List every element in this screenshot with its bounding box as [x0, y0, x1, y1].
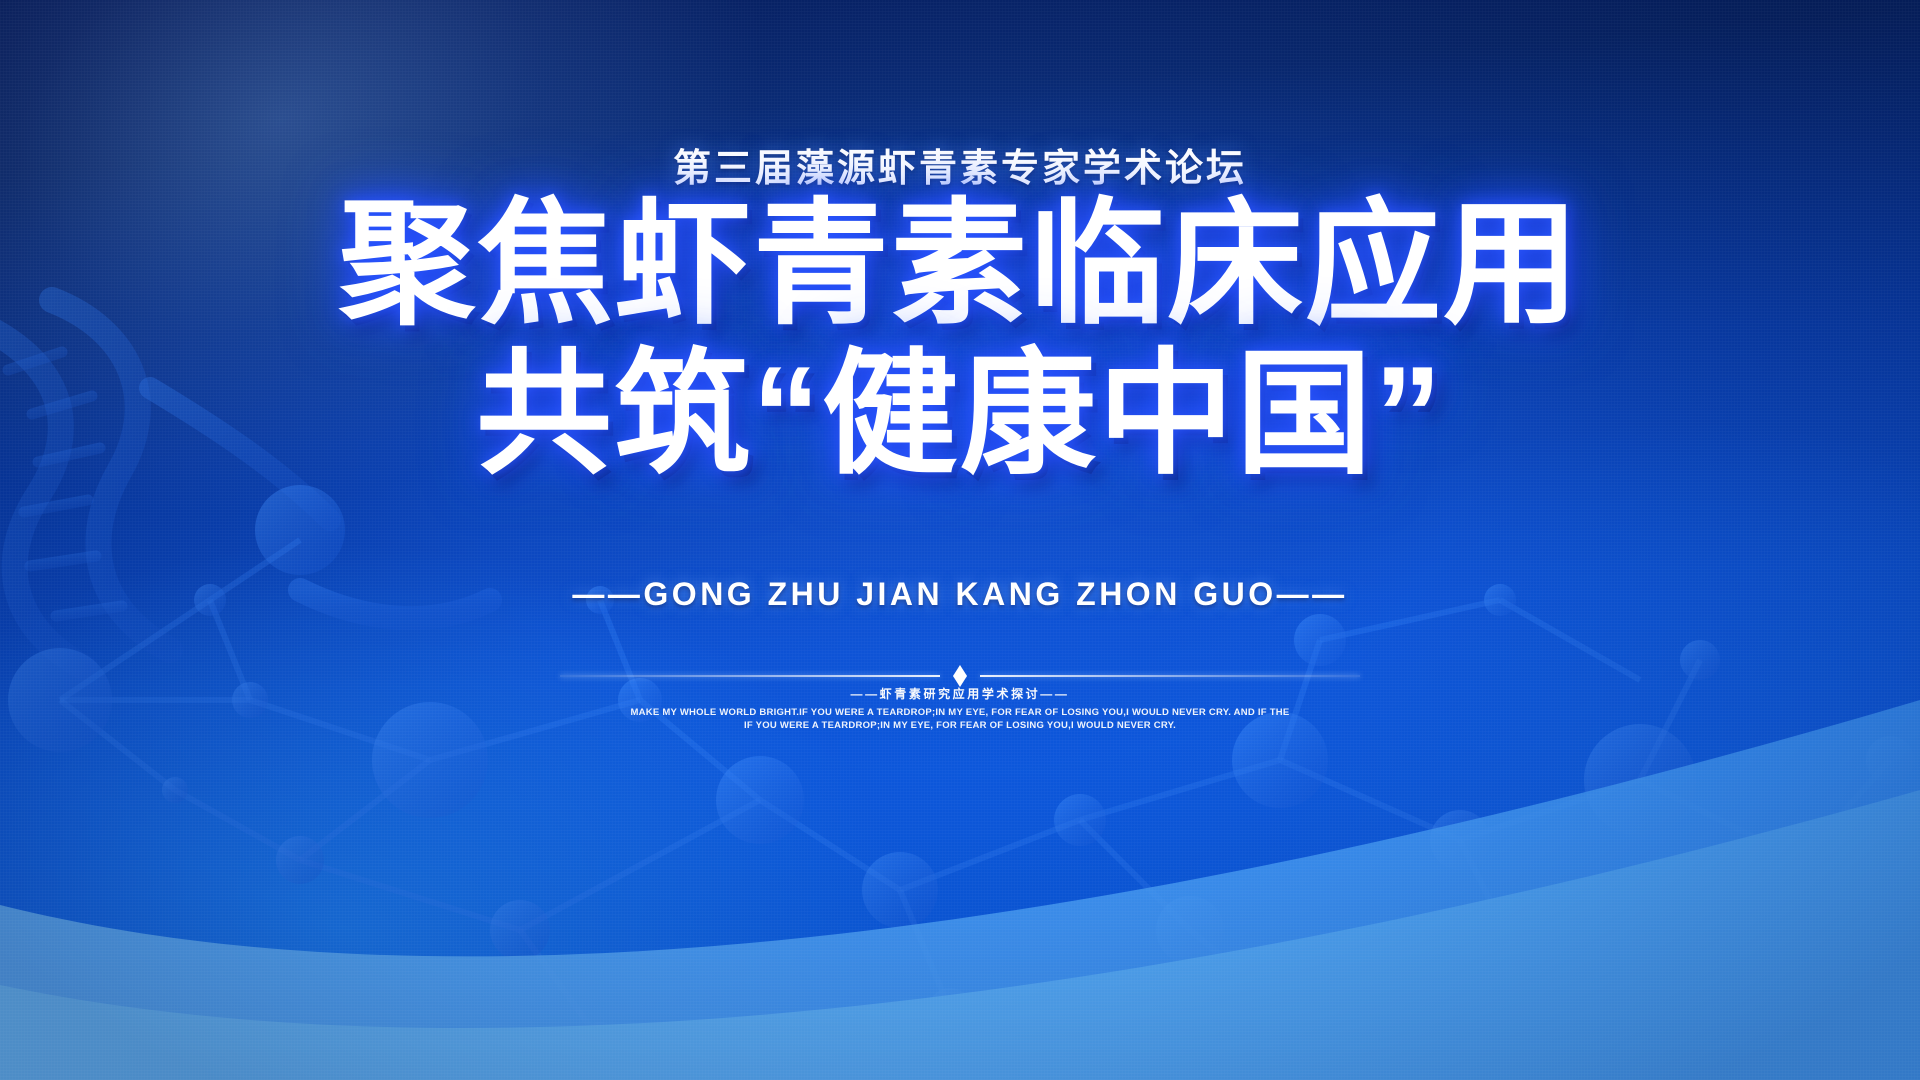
- event-series-label: 第三届藻源虾青素专家学术论坛: [0, 137, 1920, 192]
- english-caption-line-1: MAKE MY WHOLE WORLD BRIGHT.IF YOU WERE A…: [0, 706, 1920, 719]
- pinyin-subtitle: ——GONG ZHU JIAN KANG ZHON GUO——: [0, 576, 1920, 613]
- divider-rule-left: [560, 675, 940, 677]
- main-title: 聚焦虾青素临床应用 共筑“健康中国”: [0, 196, 1920, 482]
- english-caption-line-2: IF YOU WERE A TEARDROP;IN MY EYE, FOR FE…: [0, 719, 1920, 732]
- main-title-line-1: 聚焦虾青素临床应用: [0, 196, 1920, 332]
- english-caption: MAKE MY WHOLE WORLD BRIGHT.IF YOU WERE A…: [0, 706, 1920, 733]
- diamond-divider-ornament: [560, 669, 1360, 683]
- poster-content: 第三届藻源虾青素专家学术论坛 聚焦虾青素临床应用 共筑“健康中国” ——GONG…: [0, 0, 1920, 1080]
- main-title-line-2: 共筑“健康中国”: [0, 346, 1920, 482]
- divider-rule-right: [980, 675, 1360, 677]
- topic-subtitle: ——虾青素研究应用学术探讨——: [0, 685, 1920, 702]
- diamond-icon: [953, 665, 967, 687]
- poster-canvas: 第三届藻源虾青素专家学术论坛 聚焦虾青素临床应用 共筑“健康中国” ——GONG…: [0, 0, 1920, 1080]
